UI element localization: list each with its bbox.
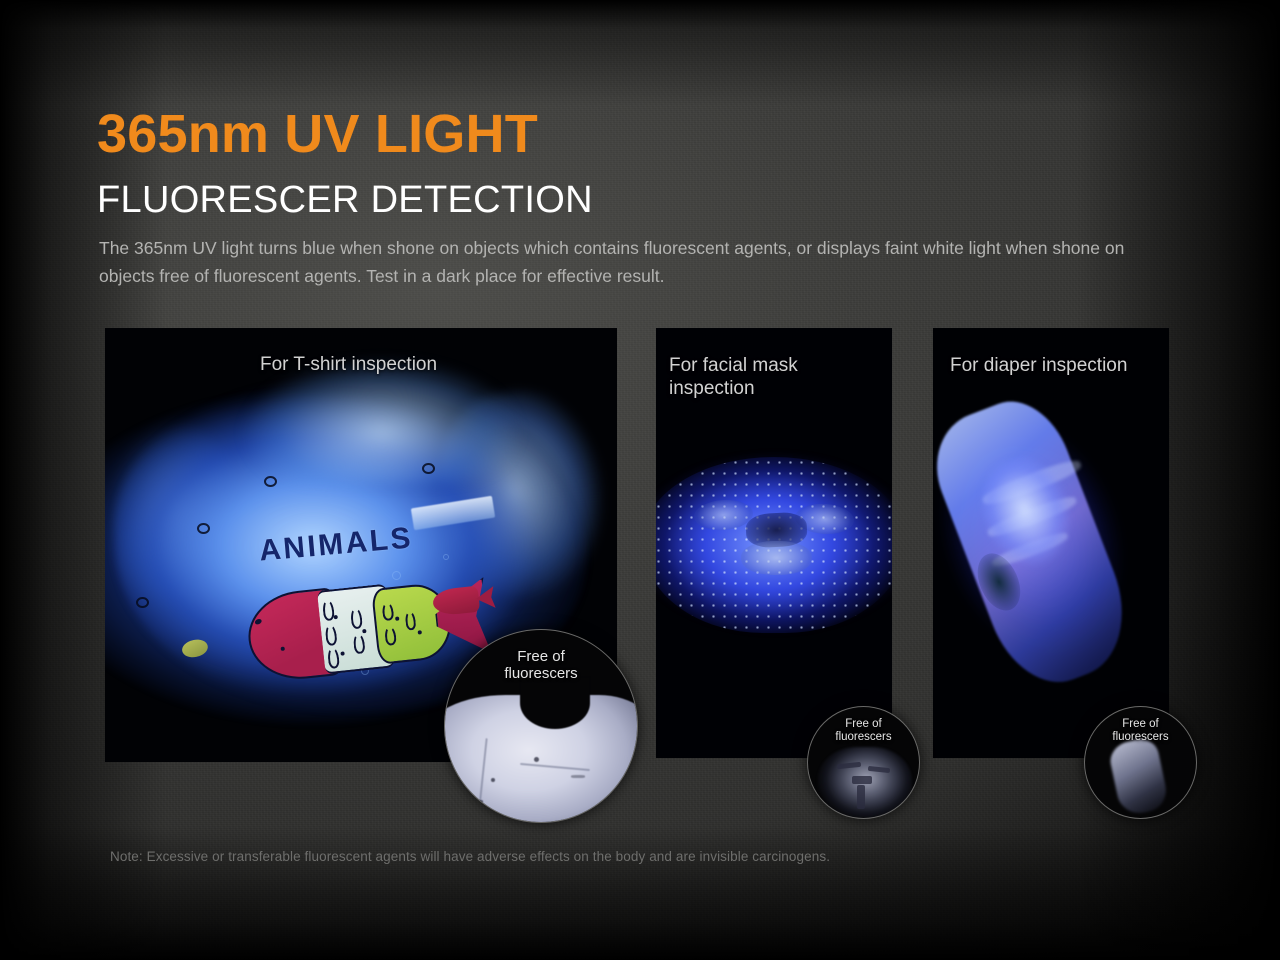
inset-facial-mask-no-fluorescers: Free of fluorescers	[807, 706, 920, 819]
inset-tshirt-no-fluorescers: Free of fluorescers	[444, 629, 638, 823]
caption-facial-mask: For facial mask inspection	[669, 354, 798, 400]
page-subtitle: FLUORESCER DETECTION	[97, 181, 593, 219]
inset-facial-mask-photo	[808, 707, 919, 818]
inset-diaper-no-fluorescers: Free of fluorescers	[1084, 706, 1197, 819]
caption-diaper: For diaper inspection	[950, 354, 1127, 377]
page-title: 365nm UV LIGHT	[97, 107, 538, 161]
slide-root: 365nm UV LIGHT FLUORESCER DETECTION The …	[0, 0, 1280, 960]
caption-tshirt: For T-shirt inspection	[260, 353, 437, 376]
diaper-photo	[933, 328, 1169, 758]
panel-diaper: For diaper inspection	[933, 328, 1169, 758]
footnote-note: Note: Excessive or transferable fluoresc…	[110, 849, 830, 864]
inset-diaper-photo	[1085, 707, 1196, 818]
inset-tshirt-photo	[445, 630, 637, 822]
page-description: The 365nm UV light turns blue when shone…	[99, 234, 1161, 290]
panel-facial-mask: For facial mask inspection	[656, 328, 892, 758]
